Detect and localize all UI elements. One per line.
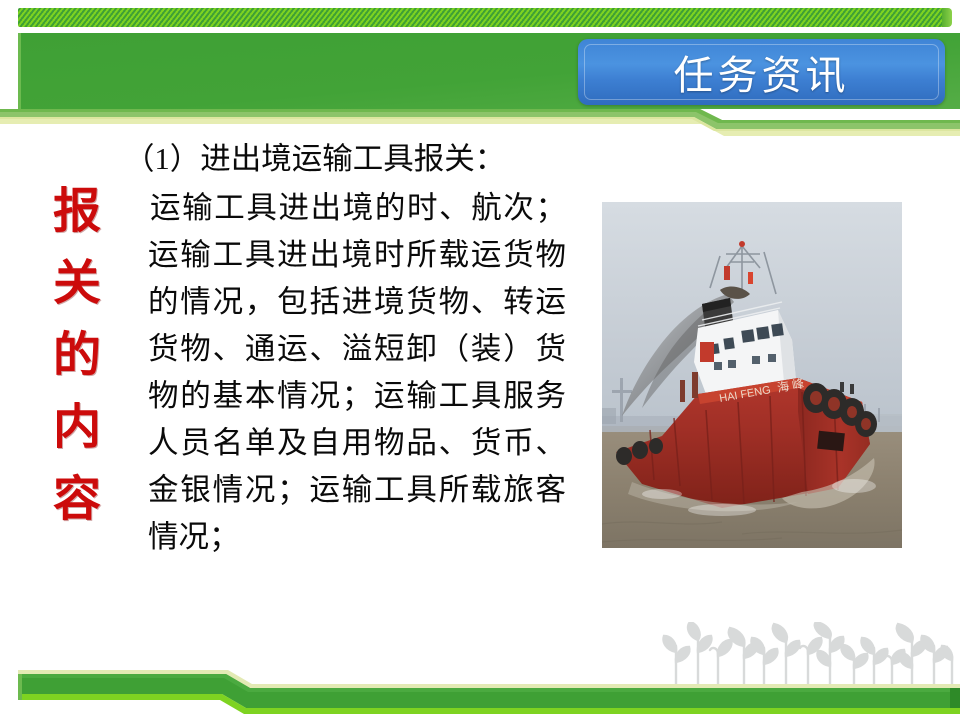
body-paragraph-2: 运输工具进出境的时、航次；运输工具进出境时所载运货物的情况，包括进境货物、转运货… xyxy=(118,185,566,561)
slide-body-text: （1）进出境运输工具报关： 运输工具进出境的时、航次；运输工具进出境时所载运货物… xyxy=(118,136,566,561)
title-badge: 任务资讯 xyxy=(578,39,945,105)
header-step-strip xyxy=(0,109,960,139)
top-hatched-band xyxy=(18,8,948,27)
top-band-end-cap xyxy=(942,8,952,27)
vertical-title-char-5: 容 xyxy=(53,464,101,536)
page-title: 任务资讯 xyxy=(674,43,850,101)
header-left-edge-accent xyxy=(18,33,21,109)
body-paragraph-1: （1）进出境运输工具报关： xyxy=(118,136,566,183)
vertical-section-title: 报 关 的 内 容 xyxy=(42,176,112,536)
vertical-title-char-1: 报 xyxy=(53,176,101,248)
vertical-title-char-3: 的 xyxy=(53,320,101,392)
vertical-title-char-4: 内 xyxy=(53,392,101,464)
footer-green-band xyxy=(0,664,960,720)
vertical-title-char-2: 关 xyxy=(53,248,101,320)
tugboat-photo: HAI FENG 海 峰 xyxy=(602,202,902,548)
